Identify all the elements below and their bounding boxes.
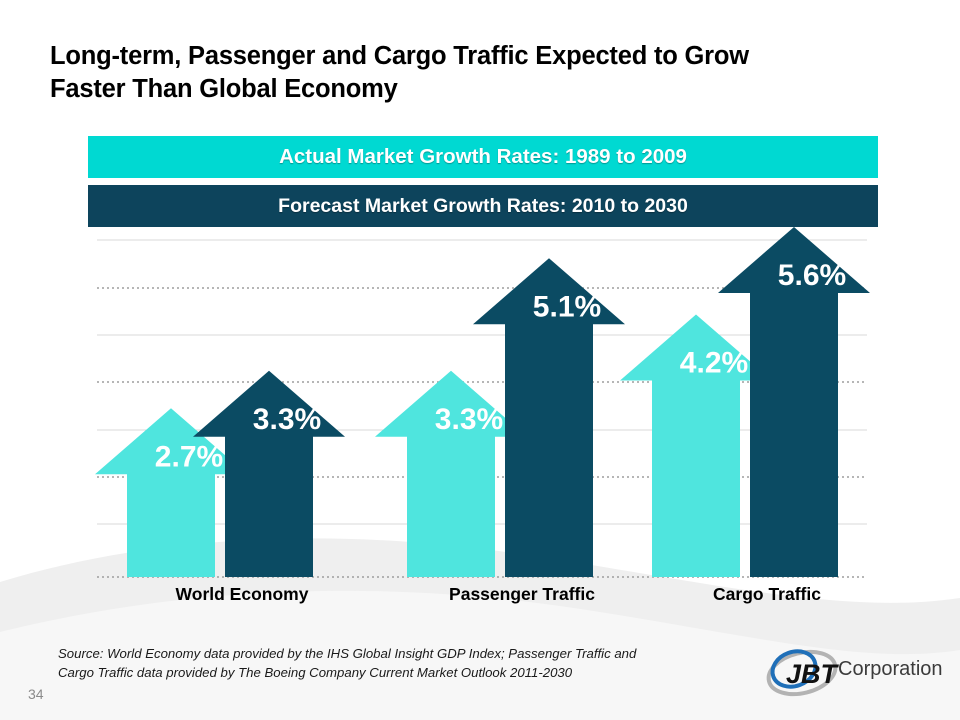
source-note-line-1: Source: World Economy data provided by t… — [58, 645, 758, 664]
logo-corporation-text: Corporation — [838, 658, 943, 681]
legend: Actual Market Growth Rates: 1989 to 2009… — [88, 136, 878, 227]
page-title-line-2: Faster Than Global Economy — [50, 73, 950, 106]
page-title-line-1: Long-term, Passenger and Cargo Traffic E… — [50, 40, 950, 73]
arrow-value-label: 4.2% — [680, 347, 748, 380]
arrow-value-label: 5.6% — [778, 259, 846, 292]
source-note: Source: World Economy data provided by t… — [58, 645, 758, 682]
arrow-value-label: 3.3% — [435, 403, 503, 436]
category-axis-labels: World EconomyPassenger TrafficCargo Traf… — [0, 584, 960, 614]
logo-wordmark: JBT — [786, 659, 840, 689]
page-title: Long-term, Passenger and Cargo Traffic E… — [50, 40, 950, 105]
arrow-value-label: 2.7% — [155, 440, 223, 473]
category-label: Cargo Traffic — [657, 584, 877, 605]
arrow-bar — [375, 371, 527, 577]
page-number: 34 — [28, 686, 44, 702]
category-label: World Economy — [132, 584, 352, 605]
category-label: Passenger Traffic — [412, 584, 632, 605]
arrow-value-label: 5.1% — [533, 290, 601, 323]
legend-actual-bar: Actual Market Growth Rates: 1989 to 2009 — [88, 136, 878, 178]
legend-forecast-bar: Forecast Market Growth Rates: 2010 to 20… — [88, 185, 878, 227]
arrow-value-label: 3.3% — [253, 403, 321, 436]
source-note-line-2: Cargo Traffic data provided by The Boein… — [58, 664, 758, 683]
